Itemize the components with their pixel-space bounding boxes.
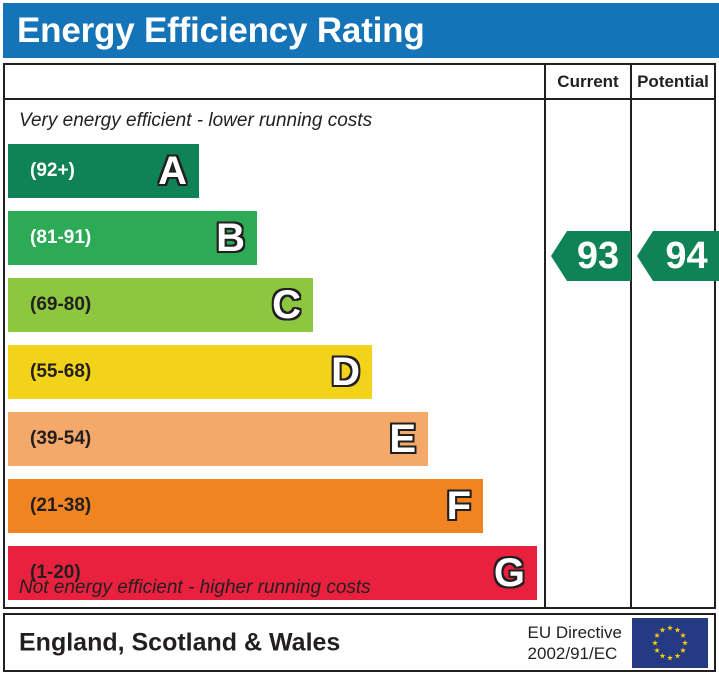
column-header-potential: Potential	[632, 65, 714, 98]
band-row-b: (81-91) B	[8, 211, 257, 265]
band-range-c: (69-80)	[30, 294, 91, 316]
footer-bar: England, Scotland & Wales EU Directive 2…	[3, 613, 716, 672]
band-letter-b: B	[216, 218, 245, 258]
rating-table: Current Potential Very energy efficient …	[3, 63, 716, 609]
band-letter-g: G	[494, 553, 525, 593]
footer-directive: EU Directive 2002/91/EC	[528, 621, 622, 664]
band-letter-f: F	[447, 486, 471, 526]
band-row-f: (21-38) F	[8, 479, 483, 533]
header-bar: Energy Efficiency Rating	[3, 3, 719, 58]
band-row-a: (92+) A	[8, 144, 199, 198]
efficiency-bands-chart: Very energy efficient - lower running co…	[5, 100, 542, 607]
table-header-row: Current Potential	[5, 65, 714, 100]
band-range-d: (55-68)	[30, 361, 91, 383]
current-rating-badge: 93	[551, 231, 631, 281]
band-letter-e: E	[389, 419, 416, 459]
band-row-e: (39-54) E	[8, 412, 428, 466]
page-title: Energy Efficiency Rating	[17, 11, 425, 51]
chart-caption-bottom: Not energy efficient - higher running co…	[19, 577, 371, 599]
eu-flag-icon	[632, 618, 708, 668]
band-row-c: (69-80) C	[8, 278, 313, 332]
band-range-b: (81-91)	[30, 227, 91, 249]
footer-directive-line1: EU Directive	[528, 621, 622, 642]
energy-efficiency-rating-certificate: Energy Efficiency Rating Current Potenti…	[0, 0, 719, 675]
column-header-current: Current	[546, 65, 630, 98]
column-divider-potential	[630, 65, 632, 607]
band-range-a: (92+)	[30, 160, 75, 182]
footer-directive-line2: 2002/91/EC	[528, 643, 622, 664]
band-row-d: (55-68) D	[8, 345, 372, 399]
footer-region-label: England, Scotland & Wales	[19, 628, 340, 657]
band-range-f: (21-38)	[30, 495, 91, 517]
column-divider-current	[544, 65, 546, 607]
band-letter-c: C	[272, 285, 301, 325]
band-range-e: (39-54)	[30, 428, 91, 450]
potential-rating-badge: 94	[637, 231, 719, 281]
band-letter-a: A	[158, 151, 187, 191]
chart-caption-top: Very energy efficient - lower running co…	[19, 110, 372, 132]
band-letter-d: D	[331, 352, 360, 392]
